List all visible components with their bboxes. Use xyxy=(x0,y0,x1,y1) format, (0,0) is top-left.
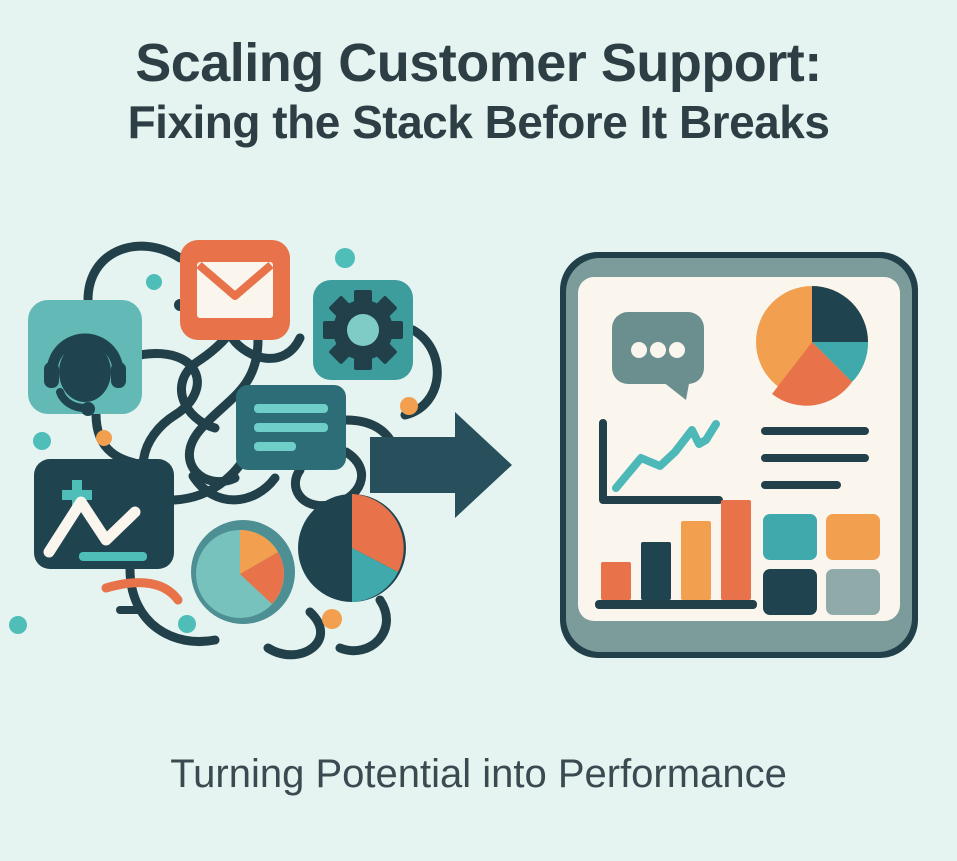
dot-teal xyxy=(335,248,355,268)
swatch-teal xyxy=(763,514,817,560)
swatch-gray xyxy=(826,569,880,615)
text-line xyxy=(761,481,841,489)
cluster-pie-small-left xyxy=(191,520,295,624)
dot-teal xyxy=(146,274,162,290)
settings-tile xyxy=(313,280,413,380)
dot-orange xyxy=(400,397,418,415)
dot-orange xyxy=(322,609,342,629)
bar xyxy=(641,542,671,600)
email-tile xyxy=(180,240,290,340)
page-title-line-1: Scaling Customer Support: xyxy=(0,32,957,94)
page-subtitle: Turning Potential into Performance xyxy=(0,752,957,797)
gear-icon xyxy=(323,290,403,370)
orange-wire xyxy=(106,583,178,600)
dot-teal xyxy=(9,616,27,634)
chart-baseline xyxy=(595,600,757,609)
illustration-canvas: Scaling Customer Support: Fixing the Sta… xyxy=(0,0,957,861)
dot-orange xyxy=(96,430,112,446)
bar xyxy=(721,500,751,600)
list-line xyxy=(254,442,296,451)
title-block: Scaling Customer Support: Fixing the Sta… xyxy=(0,32,957,150)
swatch-orange xyxy=(826,514,880,560)
cluster-pie-small-right xyxy=(298,494,406,602)
document-tile xyxy=(236,385,346,470)
list-line xyxy=(254,404,328,413)
transform-arrow xyxy=(370,412,512,518)
text-line xyxy=(761,427,869,435)
text-line xyxy=(761,454,869,462)
metrics-tile xyxy=(34,459,174,569)
dot-teal xyxy=(33,432,51,450)
dashboard-tablet xyxy=(560,252,918,658)
dot-teal xyxy=(178,615,196,633)
swatch-navy xyxy=(763,569,817,615)
wire-dash xyxy=(116,606,142,614)
headset-head-icon xyxy=(59,342,111,402)
bar xyxy=(601,562,631,600)
page-title-line-2: Fixing the Stack Before It Breaks xyxy=(0,94,957,150)
list-line xyxy=(254,423,328,432)
headset-tile xyxy=(28,300,142,416)
bar xyxy=(681,521,711,600)
